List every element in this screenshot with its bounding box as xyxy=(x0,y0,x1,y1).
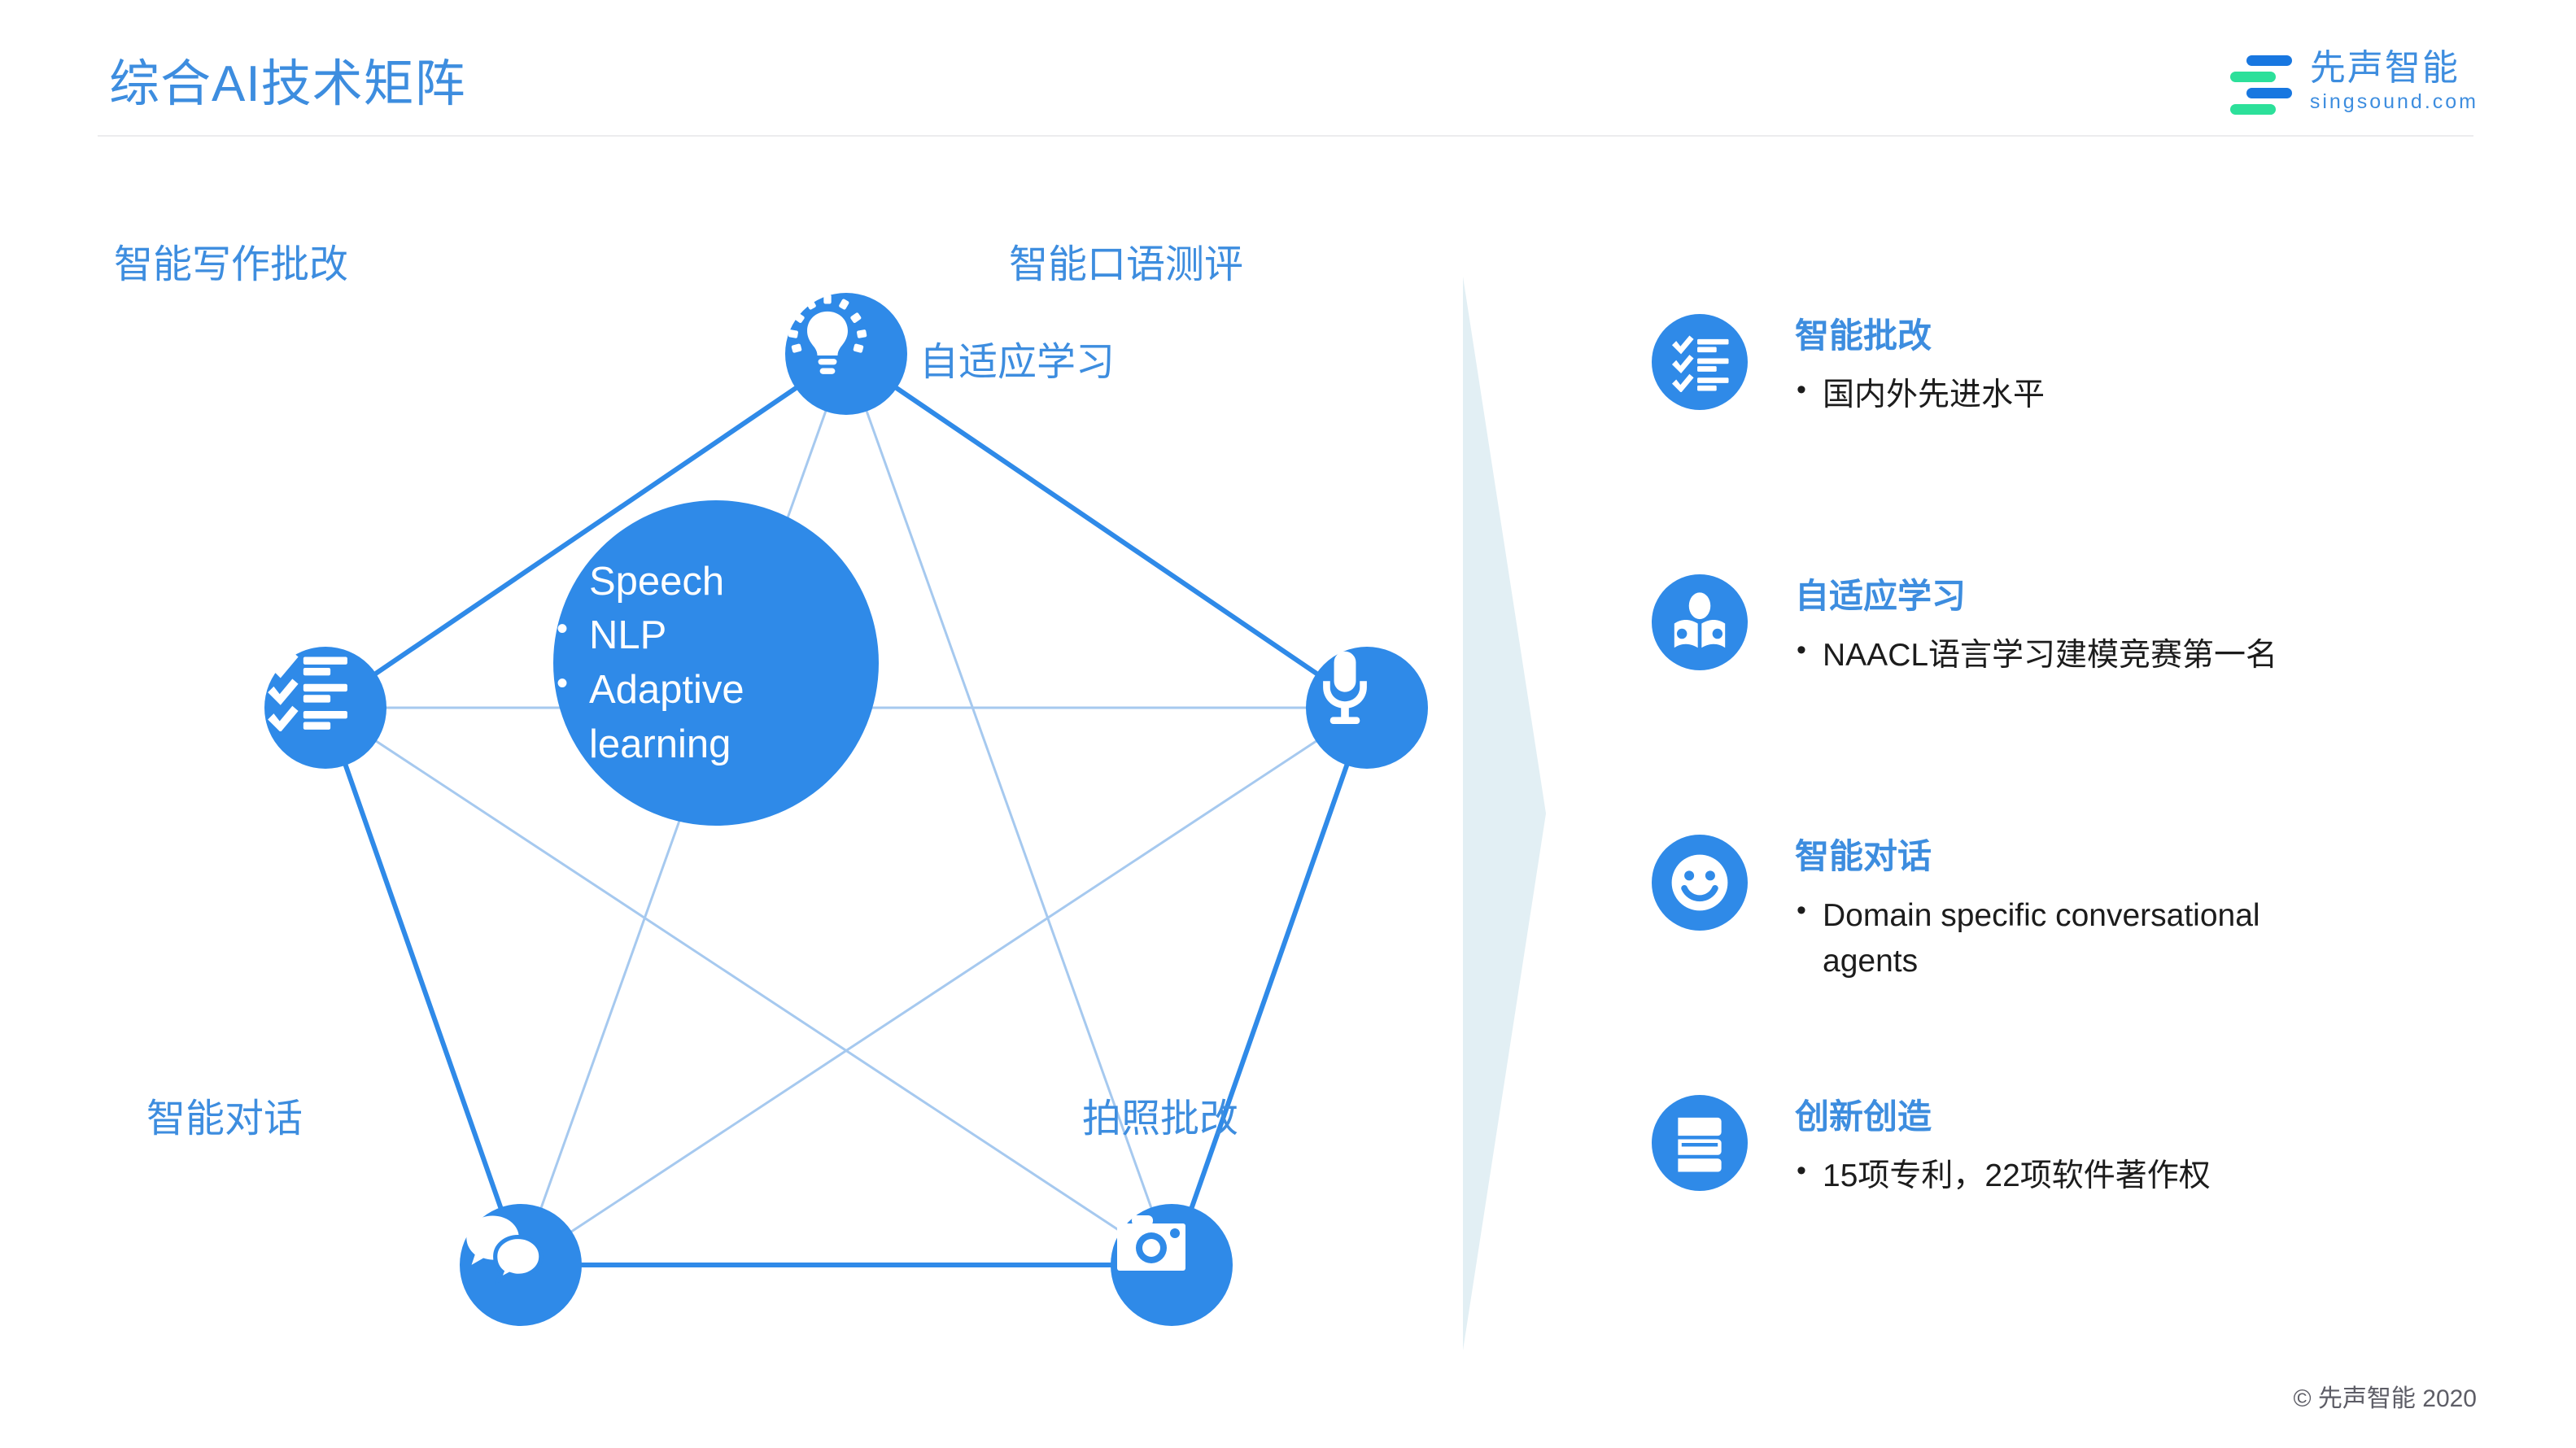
diagram-node-label-spoken-assessment: 智能口语测评 xyxy=(1009,232,1243,289)
feature-body: 智能对话 Domain specific conversational agen… xyxy=(1795,835,2262,984)
feature-body: 自适应学习 NAACL语言学习建模竞赛第一名 xyxy=(1795,574,2277,678)
checklist-icon xyxy=(1670,332,1730,392)
feature-item-smart-grading[interactable]: 智能批改 国内外先进水平 xyxy=(1652,314,2045,418)
logo-company-name: 先声智能 xyxy=(2310,50,2478,86)
diagram-connections xyxy=(195,244,1513,1383)
diagram-node-spoken-assessment[interactable] xyxy=(1306,647,1428,769)
brand-logo: 先声智能 singsound.com xyxy=(2229,50,2478,112)
feature-bullet-list: 国内外先进水平 xyxy=(1795,373,2045,417)
person-reading-icon xyxy=(1668,591,1731,654)
diagram-node-smart-dialogue[interactable] xyxy=(460,1204,582,1326)
feature-item-innovation[interactable]: 创新创造 15项专利，22项软件著作权 xyxy=(1652,1095,2211,1199)
diagram-node-adaptive-learning[interactable] xyxy=(785,293,907,415)
diagram-node-writing-grading[interactable] xyxy=(264,647,386,769)
chat-bubbles-icon xyxy=(460,1204,544,1289)
feature-title: 智能对话 xyxy=(1795,838,2262,875)
feature-bullet-list: Domain specific conversational agents xyxy=(1795,893,2262,984)
logo-bar-3 xyxy=(2246,88,2292,98)
feature-bullet: 15项专利，22项软件著作权 xyxy=(1795,1154,2211,1198)
lightbulb-icon xyxy=(785,293,870,377)
feature-item-adaptive-learning[interactable]: 自适应学习 NAACL语言学习建模竞赛第一名 xyxy=(1652,574,2277,678)
feature-title: 自适应学习 xyxy=(1795,578,2277,615)
footer-copyright: © 先声智能 2020 xyxy=(2293,1378,2477,1414)
diagram-node-label-photo-grading: 拍照批改 xyxy=(1082,1086,1238,1143)
logo-mark-icon xyxy=(2229,52,2295,111)
center-bullet-list: Speech NLP Adaptive learning xyxy=(553,555,879,772)
feature-bullet-list: NAACL语言学习建模竞赛第一名 xyxy=(1795,633,2277,678)
page-title: 综合AI技术矩阵 xyxy=(109,42,466,116)
feature-title: 智能批改 xyxy=(1795,317,2045,355)
feature-title: 创新创造 xyxy=(1795,1098,2211,1136)
title-divider xyxy=(98,135,2473,137)
feature-icon-wrapper xyxy=(1652,835,1748,931)
books-stack-icon xyxy=(1670,1113,1730,1173)
logo-bar-1 xyxy=(2246,55,2292,66)
microphone-icon xyxy=(1306,647,1384,725)
chevron-divider-shape xyxy=(1456,277,1554,1354)
logo-domain: singsound.com xyxy=(2310,92,2478,112)
feature-bullet: NAACL语言学习建模竞赛第一名 xyxy=(1795,633,2277,678)
feature-icon-wrapper xyxy=(1652,314,1748,410)
feature-body: 智能批改 国内外先进水平 xyxy=(1795,314,2045,418)
diagram-node-label-writing-grading: 智能写作批改 xyxy=(114,232,348,289)
feature-bullet: 国内外先进水平 xyxy=(1795,373,2045,417)
feature-icon-wrapper xyxy=(1652,574,1748,670)
checklist-icon xyxy=(264,647,349,731)
logo-bar-4 xyxy=(2230,104,2276,115)
pentagon-diagram: Speech NLP Adaptive learning xyxy=(195,244,1513,1383)
feature-bullet-list: 15项专利，22项软件著作权 xyxy=(1795,1154,2211,1198)
logo-bar-2 xyxy=(2230,72,2276,82)
feature-body: 创新创造 15项专利，22项软件著作权 xyxy=(1795,1095,2211,1199)
diagram-node-label-smart-dialogue: 智能对话 xyxy=(146,1086,303,1143)
diagram-node-label-adaptive-learning: 自适应学习 xyxy=(919,329,1115,386)
center-bullet-2: Adaptive learning xyxy=(553,663,879,771)
feature-icon-wrapper xyxy=(1652,1095,1748,1191)
diagram-center-circle: Speech NLP Adaptive learning xyxy=(553,500,879,826)
slide-root: 综合AI技术矩阵 先声智能 singsound.com xyxy=(0,0,2576,1448)
feature-bullet: Domain specific conversational agents xyxy=(1795,893,2262,984)
logo-text: 先声智能 singsound.com xyxy=(2310,50,2478,112)
feature-item-smart-dialogue[interactable]: 智能对话 Domain specific conversational agen… xyxy=(1652,835,2262,984)
smiley-face-icon xyxy=(1665,848,1735,918)
center-bullet-0: Speech xyxy=(553,555,879,609)
center-bullet-1: NLP xyxy=(553,608,879,663)
camera-icon xyxy=(1111,1204,1192,1285)
diagram-node-photo-grading[interactable] xyxy=(1111,1204,1233,1326)
